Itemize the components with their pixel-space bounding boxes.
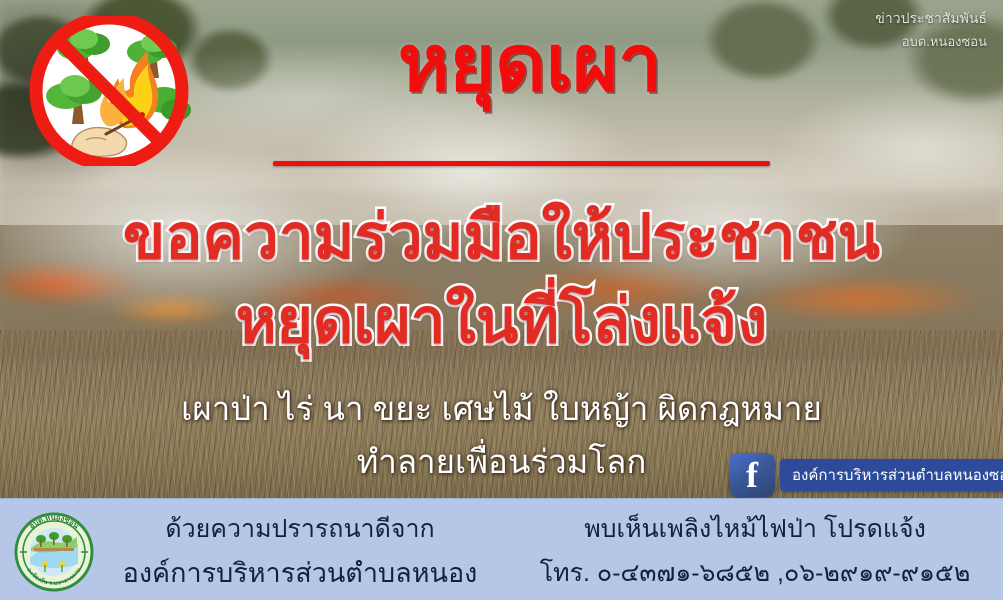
facebook-icon[interactable]: f [729,453,775,497]
news-org-short: อบต.หนองซอน [875,34,987,50]
footer-left-line-1: ด้วยความปรารถนาดีจาก [100,511,500,549]
poster-root: ข่าวประชาสัมพันธ์ อบต.หนองซอน หยุดเผา ขอ… [0,0,1003,600]
page-title: หยุดเผา [330,24,730,102]
message-red-line-2: หยุดเผาในที่โล่งแจ้ง [0,272,1003,370]
message-white-line-1: เผาป่า ไร่ นา ขยะ เศษไม้ ใบหญ้า ผิดกฎหมา… [0,382,1003,435]
title-divider [273,161,770,166]
footer-left-block: ด้วยความปรารถนาดีจาก องค์การบริหารส่วนตำ… [100,511,500,600]
facebook-page-name[interactable]: องค์การบริหารส่วนตำบลหนองซอน [780,459,1003,491]
footer-right-block: พบเห็นเพลิงไหม้ไฟป่า โปรดแจ้ง โทร. ๐-๔๓๗… [520,511,990,592]
news-label: ข่าวประชาสัมพันธ์ [875,10,987,28]
footer-bar: อบต.หนองซอน อบต.หนองซอน อ.เชียงยืน จ.มหา… [0,498,1003,600]
footer-phone-numbers: โทร. ๐-๔๓๗๑-๖๘๕๒ ,๐๖-๒๙๑๙-๙๑๕๒ [520,555,990,593]
facebook-badge[interactable]: f องค์การบริหารส่วนตำบลหนองซอน [729,453,1003,497]
footer-left-line-2: องค์การบริหารส่วนตำบลหนองซอน [100,553,500,600]
municipality-seal-icon: อบต.หนองซอน อบต.หนองซอน อ.เชียงยืน จ.มหา… [14,512,94,592]
no-burning-icon [14,16,204,166]
footer-right-line-1: พบเห็นเพลิงไหม้ไฟป่า โปรดแจ้ง [520,511,990,549]
news-header: ข่าวประชาสัมพันธ์ อบต.หนองซอน [875,10,987,50]
